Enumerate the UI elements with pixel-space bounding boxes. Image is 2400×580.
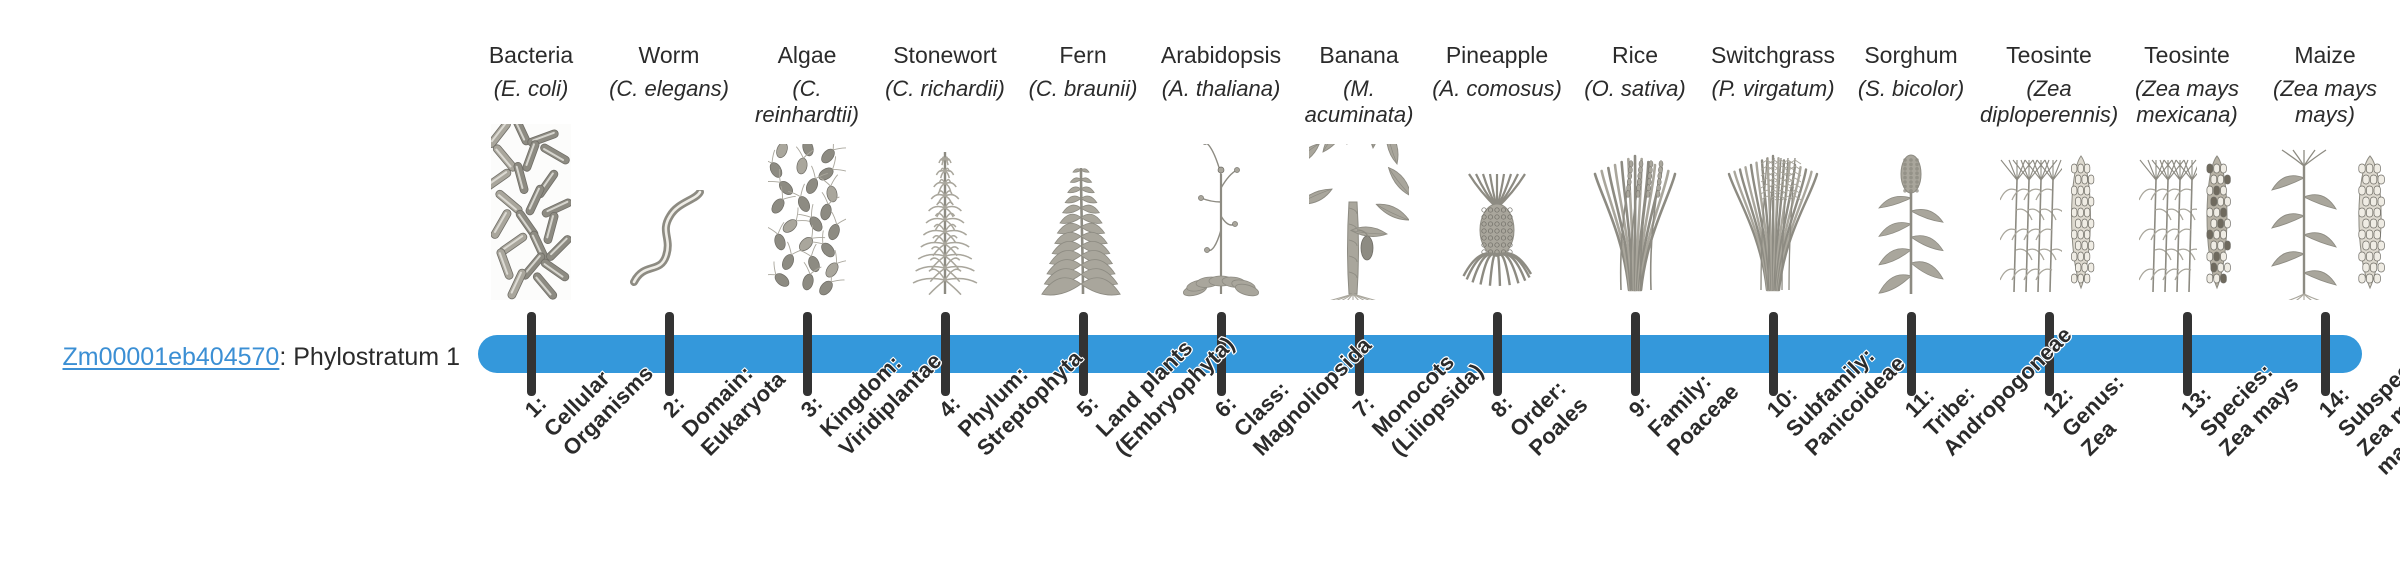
phylostratum-diagram: Zm00001eb404570: Phylostratum 1 Bacteria… bbox=[0, 0, 2400, 580]
tick-mark-1[interactable] bbox=[527, 312, 536, 396]
species-common-name: Algae bbox=[738, 42, 876, 68]
species-column-banana-7: Banana(M. acuminata) bbox=[1290, 0, 1428, 580]
species-scientific-name: (C. elegans) bbox=[600, 76, 738, 102]
tick-mark-9[interactable] bbox=[1631, 312, 1640, 396]
teosinte-mexicana-icon bbox=[2118, 160, 2256, 300]
stonewort-icon bbox=[876, 160, 1014, 300]
species-common-name: Stonewort bbox=[876, 42, 1014, 68]
tick-mark-10[interactable] bbox=[1769, 312, 1778, 396]
species-scientific-name: (O. sativa) bbox=[1566, 76, 1704, 102]
switchgrass-icon bbox=[1704, 160, 1842, 300]
gene-id-link[interactable]: Zm00001eb404570 bbox=[62, 343, 279, 371]
tick-mark-4[interactable] bbox=[941, 312, 950, 396]
species-common-name: Bacteria bbox=[462, 42, 600, 68]
species-scientific-name: (A. thaliana) bbox=[1152, 76, 1290, 102]
species-scientific-name: (Zea mays mays) bbox=[2256, 76, 2394, 128]
species-common-name: Banana bbox=[1290, 42, 1428, 68]
tick-mark-11[interactable] bbox=[1907, 312, 1916, 396]
species-column-bacteria-1: Bacteria(E. coli) bbox=[462, 0, 600, 580]
species-common-name: Maize bbox=[2256, 42, 2394, 68]
species-column-worm-2: Worm(C. elegans) bbox=[600, 0, 738, 580]
species-column-fern-5: Fern(C. braunii) bbox=[1014, 0, 1152, 580]
species-scientific-name: (P. virgatum) bbox=[1704, 76, 1842, 102]
banana-icon bbox=[1290, 160, 1428, 300]
species-column-switchgrass-10: Switchgrass(P. virgatum) bbox=[1704, 0, 1842, 580]
gene-phylostratum-text: : Phylostratum 1 bbox=[279, 343, 460, 371]
species-common-name: Fern bbox=[1014, 42, 1152, 68]
algae-icon bbox=[738, 160, 876, 300]
species-scientific-name: (A. comosus) bbox=[1428, 76, 1566, 102]
tick-mark-2[interactable] bbox=[665, 312, 674, 396]
species-scientific-name: (C. richardii) bbox=[876, 76, 1014, 102]
species-common-name: Teosinte bbox=[2118, 42, 2256, 68]
species-scientific-name: (S. bicolor) bbox=[1842, 76, 1980, 102]
species-column-stonewort-4: Stonewort(C. richardii) bbox=[876, 0, 1014, 580]
species-column-algae-3: Algae(C. reinhardtii) bbox=[738, 0, 876, 580]
tick-mark-3[interactable] bbox=[803, 312, 812, 396]
tick-mark-5[interactable] bbox=[1079, 312, 1088, 396]
species-common-name: Worm bbox=[600, 42, 738, 68]
maize-icon bbox=[2256, 160, 2394, 300]
species-scientific-name: (C. braunii) bbox=[1014, 76, 1152, 102]
species-scientific-name: (C. reinhardtii) bbox=[738, 76, 876, 128]
tick-mark-14[interactable] bbox=[2321, 312, 2330, 396]
species-scientific-name: (Zea mays mexicana) bbox=[2118, 76, 2256, 128]
species-column-pineapple-8: Pineapple(A. comosus) bbox=[1428, 0, 1566, 580]
arabidopsis-icon bbox=[1152, 160, 1290, 300]
species-column-sorghum-11: Sorghum(S. bicolor) bbox=[1842, 0, 1980, 580]
species-scientific-name: (Zea diploperennis) bbox=[1980, 76, 2118, 128]
species-column-rice-9: Rice(O. sativa) bbox=[1566, 0, 1704, 580]
species-scientific-name: (E. coli) bbox=[462, 76, 600, 102]
species-column-teosinte-12: Teosinte(Zea diploperennis) bbox=[1980, 0, 2118, 580]
species-column-maize-14: Maize(Zea mays mays) bbox=[2256, 0, 2394, 580]
species-scientific-name: (M. acuminata) bbox=[1290, 76, 1428, 128]
phylostratum-value: Phylostratum 1 bbox=[293, 343, 460, 371]
tick-mark-8[interactable] bbox=[1493, 312, 1502, 396]
fern-icon bbox=[1014, 160, 1152, 300]
teosinte-diploperennis-icon bbox=[1980, 160, 2118, 300]
species-common-name: Switchgrass bbox=[1704, 42, 1842, 68]
worm-icon bbox=[600, 160, 738, 300]
pineapple-icon bbox=[1428, 160, 1566, 300]
gene-label-separator: : bbox=[279, 343, 293, 371]
bacteria-icon bbox=[462, 160, 600, 300]
gene-phylostratum-label: Zm00001eb404570: Phylostratum 1 bbox=[40, 342, 460, 372]
species-common-name: Sorghum bbox=[1842, 42, 1980, 68]
species-common-name: Arabidopsis bbox=[1152, 42, 1290, 68]
rice-icon bbox=[1566, 160, 1704, 300]
species-common-name: Rice bbox=[1566, 42, 1704, 68]
species-common-name: Teosinte bbox=[1980, 42, 2118, 68]
species-column-arabidopsis-6: Arabidopsis(A. thaliana) bbox=[1152, 0, 1290, 580]
sorghum-icon bbox=[1842, 160, 1980, 300]
tick-mark-13[interactable] bbox=[2183, 312, 2192, 396]
species-common-name: Pineapple bbox=[1428, 42, 1566, 68]
species-column-teosinte-13: Teosinte(Zea mays mexicana) bbox=[2118, 0, 2256, 580]
